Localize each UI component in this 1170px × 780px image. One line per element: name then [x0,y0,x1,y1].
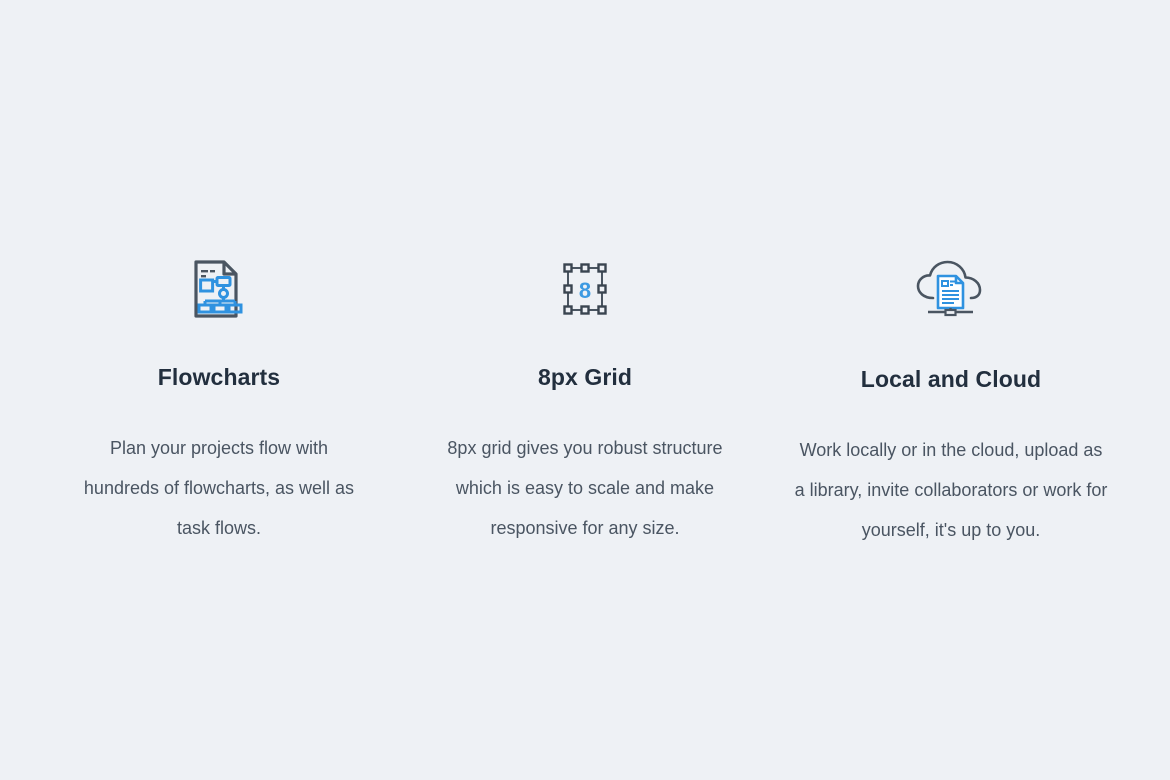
feature-card-flowcharts: Flowcharts Plan your projects flow with … [36,258,402,548]
feature-card-8px-grid: 8 8px Grid 8px grid gives you robust str… [402,258,768,548]
feature-description: Work locally or in the cloud, upload as … [794,394,1109,550]
eight-px-grid-icon: 8 [558,258,612,320]
flowchart-document-icon [191,258,247,320]
feature-title: Flowcharts [158,320,280,392]
features-section: Flowcharts Plan your projects flow with … [0,0,1170,780]
feature-card-local-and-cloud: Local and Cloud Work locally or in the c… [768,258,1134,550]
grid-icon-label: 8 [579,278,591,303]
feature-title: Local and Cloud [861,320,1041,394]
cloud-document-network-icon [914,258,988,320]
feature-title: 8px Grid [538,320,632,392]
feature-description: 8px grid gives you robust structure whic… [435,392,735,548]
feature-description: Plan your projects flow with hundreds of… [71,392,367,548]
